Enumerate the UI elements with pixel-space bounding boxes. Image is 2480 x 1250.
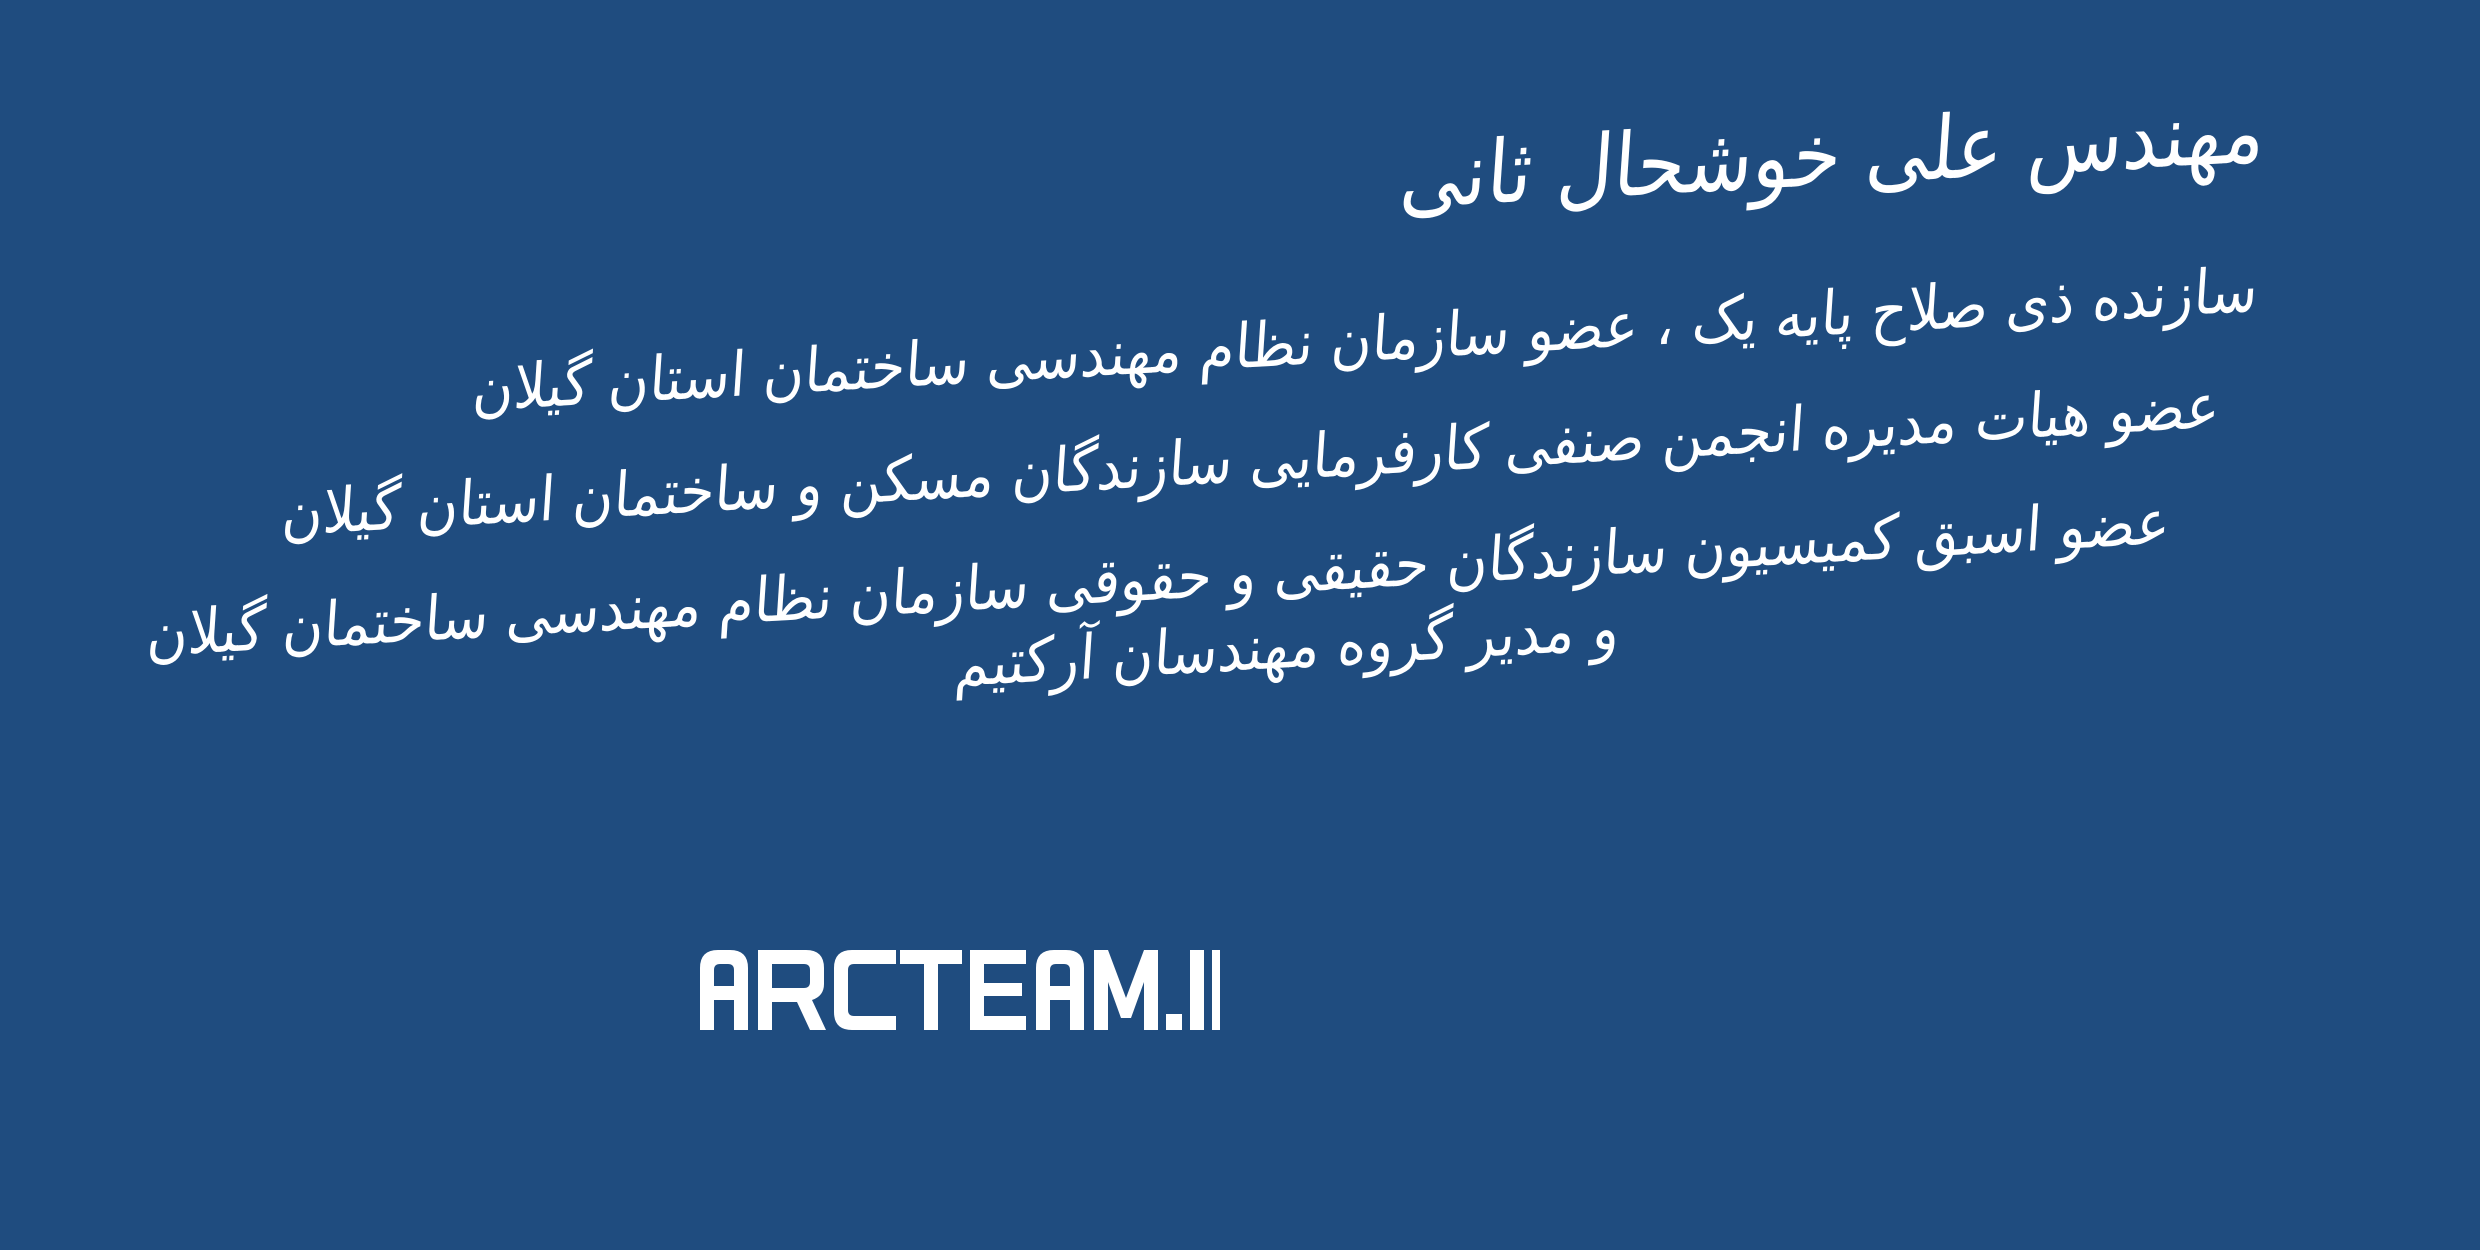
page-title: مهندس علی خوشحال ثانی [1397, 87, 2268, 226]
arcteam-logo: ARCTEAM.IR [700, 950, 1220, 1030]
business-card-banner: مهندس علی خوشحال ثانی سازنده ذی صلاح پای… [0, 0, 2480, 1250]
